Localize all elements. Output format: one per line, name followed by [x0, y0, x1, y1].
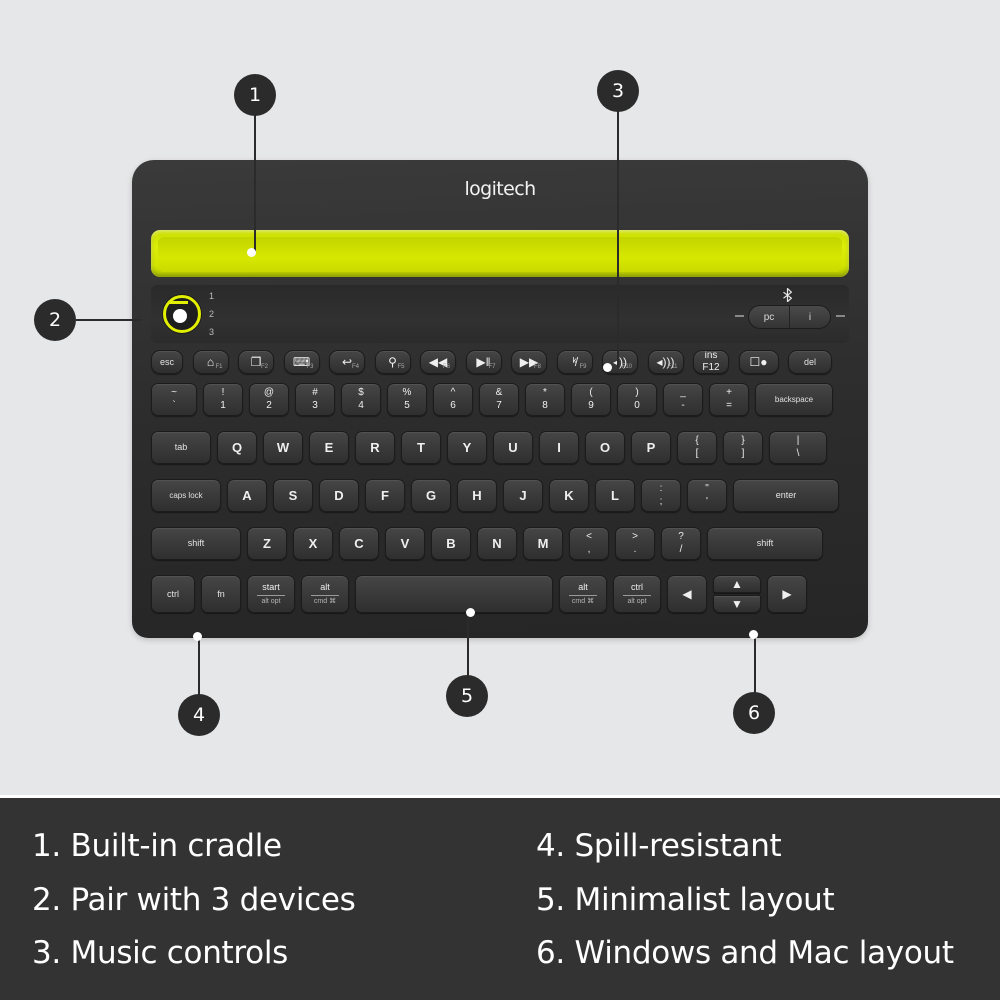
fkey-label: F2 [261, 364, 268, 370]
key-minus[interactable]: _- [663, 383, 703, 416]
key-label: tab [175, 443, 188, 452]
callout-line-3 [617, 108, 619, 368]
key-label-shifted: $ [358, 387, 364, 400]
key-zero[interactable]: )0 [617, 383, 657, 416]
key-dual-label: _- [680, 387, 686, 412]
callout-badge-1: 1 [234, 74, 276, 116]
key-label-shifted: } [741, 435, 744, 448]
key-label-windows: start [262, 583, 280, 594]
key-label: P [647, 441, 656, 454]
key-dual-os-label: startalt opt [248, 583, 294, 605]
key-dual-label: !1 [220, 387, 226, 412]
callout-dot-6 [749, 630, 758, 639]
key-six[interactable]: ^6 [433, 383, 473, 416]
key-dual-label: &7 [496, 387, 503, 412]
key-slash[interactable]: ?/ [661, 527, 701, 560]
key-label: E [325, 441, 334, 454]
key-dual-label: <, [586, 531, 592, 556]
key-label-shifted: ( [589, 387, 592, 400]
key-s[interactable]: S [273, 479, 313, 512]
fkey-label: F8 [534, 364, 541, 370]
key-esc[interactable]: esc [151, 350, 183, 374]
key-label: C [354, 537, 363, 550]
fkey-label: F9 [579, 364, 586, 370]
feature-item-4: 4. Spill-resistant [536, 820, 996, 874]
cradle-inner-groove [158, 237, 842, 272]
key-label-shifted: ins [705, 350, 718, 362]
feature-column-left: 1. Built-in cradle 2. Pair with 3 device… [32, 820, 512, 981]
key-one[interactable]: !1 [203, 383, 243, 416]
key-label: L [611, 489, 619, 502]
key-label: T [417, 441, 425, 454]
key-ctrl-right[interactable]: ctrlalt opt [613, 575, 661, 613]
key-o[interactable]: O [585, 431, 625, 464]
dial-knob [173, 309, 187, 323]
callout-dot-1 [247, 248, 256, 257]
key-j[interactable]: J [503, 479, 543, 512]
keyboard-body: logitech 1 2 3 pc i esc⌂ [132, 160, 868, 638]
arrow-up-icon: ▲ [731, 578, 743, 590]
feature-item-5: 5. Minimalist layout [536, 874, 996, 928]
key-alt-right[interactable]: altcmd ⌘ [559, 575, 607, 613]
key-label-base: 4 [358, 400, 364, 413]
key-label: X [309, 537, 318, 550]
key-label-base: ` [172, 400, 175, 413]
fkey-label: F3 [306, 364, 313, 370]
key-enter[interactable]: enter [733, 479, 839, 512]
key-dual-os-label: altcmd ⌘ [302, 583, 348, 605]
key-divider [623, 595, 651, 596]
home-icon: ⌂ [207, 356, 214, 368]
key-divider [257, 595, 285, 596]
key-label-shifted: * [543, 387, 547, 400]
key-play-pause[interactable]: ▶‖F7 [466, 350, 502, 374]
key-next-track[interactable]: ▶▶F8 [511, 350, 547, 374]
key-p[interactable]: P [631, 431, 671, 464]
key-label: esc [160, 358, 174, 367]
fkey-label: F1 [215, 364, 222, 370]
key-label-base: - [681, 400, 684, 413]
key-ctrl-left[interactable]: ctrl [151, 575, 195, 613]
key-label-base: 1 [220, 400, 226, 413]
key-tilde[interactable]: ~` [151, 383, 197, 416]
mute-icon: ᵏ̸ [572, 356, 576, 368]
key-label-base: ; [660, 496, 663, 509]
key-divider [311, 595, 339, 596]
fkey-label: F11 [668, 364, 678, 370]
feature-item-1: 1. Built-in cradle [32, 820, 512, 874]
key-dual-label: ?/ [678, 531, 684, 556]
arrow-down-icon: ▼ [731, 598, 743, 610]
key-label-shifted: ) [635, 387, 638, 400]
key-label-mac: alt opt [261, 598, 280, 605]
key-dual-label: |\ [797, 435, 800, 460]
key-label: D [334, 489, 343, 502]
dial-number-3: 3 [209, 327, 214, 337]
key-label-base: 8 [542, 400, 548, 413]
key-previous-track[interactable]: ◀◀F6 [420, 350, 456, 374]
key-backslash[interactable]: |\ [769, 431, 827, 464]
app-switch-icon: ❐ [251, 356, 262, 368]
key-label-base: . [634, 544, 637, 557]
key-label: H [472, 489, 481, 502]
key-r[interactable]: R [355, 431, 395, 464]
key-label: Z [263, 537, 271, 550]
key-e[interactable]: E [309, 431, 349, 464]
fkey-label: F4 [352, 364, 359, 370]
key-label: del [804, 358, 816, 367]
key-dual-label: insF12 [702, 350, 719, 374]
key-g[interactable]: G [411, 479, 451, 512]
key-dual-label: }] [741, 435, 744, 460]
key-label: I [557, 441, 561, 454]
key-label: O [600, 441, 610, 454]
key-insert-print[interactable]: insF12 [693, 350, 729, 374]
key-label-shifted: & [496, 387, 503, 400]
key-label: G [426, 489, 436, 502]
key-label: enter [776, 491, 797, 500]
key-k[interactable]: K [549, 479, 589, 512]
key-mute[interactable]: ᵏ̸F9 [557, 350, 593, 374]
key-label: B [446, 537, 455, 550]
key-start[interactable]: startalt opt [247, 575, 295, 613]
key-home[interactable]: ⌂F1 [193, 350, 229, 374]
key-label-base: = [726, 400, 732, 413]
key-seven[interactable]: &7 [479, 383, 519, 416]
callout-badge-5: 5 [446, 675, 488, 717]
key-label: W [277, 441, 289, 454]
key-label-base: ] [742, 448, 745, 461]
toggle-option-pc[interactable]: pc [749, 306, 790, 328]
key-x[interactable]: X [293, 527, 333, 560]
feature-column-right: 4. Spill-resistant 5. Minimalist layout … [536, 820, 996, 981]
key-i[interactable]: I [539, 431, 579, 464]
key-bracket-left[interactable]: {[ [677, 431, 717, 464]
key-tab[interactable]: tab [151, 431, 211, 464]
key-quote[interactable]: "' [687, 479, 727, 512]
screenshot-icon: ☐● [749, 356, 767, 368]
key-bracket-right[interactable]: }] [723, 431, 763, 464]
key-five[interactable]: %5 [387, 383, 427, 416]
key-q[interactable]: Q [217, 431, 257, 464]
key-dual-label: ^6 [450, 387, 456, 412]
key-label: shift [188, 539, 205, 548]
fkey-label: F10 [622, 364, 632, 370]
key-dual-label: )0 [634, 387, 640, 412]
key-dual-label: $4 [358, 387, 364, 412]
key-backspace[interactable]: backspace [755, 383, 833, 416]
bluetooth-icon [782, 288, 793, 304]
key-label-shifted: ! [222, 387, 225, 400]
key-b[interactable]: B [431, 527, 471, 560]
logitech-wordmark: logitech [132, 178, 868, 200]
feature-item-2: 2. Pair with 3 devices [32, 874, 512, 928]
key-label: caps lock [169, 492, 202, 500]
key-label-shifted: : [660, 483, 663, 496]
key-u[interactable]: U [493, 431, 533, 464]
fkey-label: F6 [443, 364, 450, 370]
dial-number-2: 2 [209, 309, 214, 319]
feature-item-3: 3. Music controls [32, 927, 512, 981]
key-label-base: 9 [588, 400, 594, 413]
key-label-shifted: ^ [451, 387, 456, 400]
key-four[interactable]: $4 [341, 383, 381, 416]
key-dual-os-label: ctrlalt opt [614, 583, 660, 605]
key-dual-label: += [726, 387, 732, 412]
key-t[interactable]: T [401, 431, 441, 464]
key-label-mac: cmd ⌘ [572, 598, 594, 605]
key-delete[interactable]: del [788, 350, 832, 374]
key-label-shifted: > [632, 531, 638, 544]
key-label: A [242, 489, 251, 502]
key-shift-left[interactable]: shift [151, 527, 241, 560]
key-label-windows: alt [578, 583, 588, 594]
key-label-base: / [680, 544, 683, 557]
key-label: Q [232, 441, 242, 454]
key-app-switch[interactable]: ❐F2 [238, 350, 274, 374]
key-label-shifted: ~ [171, 387, 177, 400]
key-y[interactable]: Y [447, 431, 487, 464]
key-f[interactable]: F [365, 479, 405, 512]
key-label-base: , [588, 544, 591, 557]
key-label-shifted: + [726, 387, 732, 400]
key-label-shifted: % [403, 387, 412, 400]
key-label: backspace [775, 396, 813, 404]
key-label-shifted: { [695, 435, 698, 448]
key-comma[interactable]: <, [569, 527, 609, 560]
key-label-base: 2 [266, 400, 272, 413]
key-dual-label: @2 [264, 387, 274, 412]
key-label: R [370, 441, 379, 454]
callout-badge-6: 6 [733, 692, 775, 734]
callout-badge-2: 2 [34, 299, 76, 341]
key-label-base: F12 [702, 362, 719, 374]
key-label: M [538, 537, 549, 550]
callout-badge-3: 3 [597, 70, 639, 112]
callout-dot-5 [466, 608, 475, 617]
key-label: J [519, 489, 526, 502]
key-arrow-right[interactable]: ▶ [767, 575, 807, 613]
search-icon: ⚲ [388, 356, 397, 368]
key-label-mac: alt opt [627, 598, 646, 605]
key-dual-label: {[ [695, 435, 698, 460]
callout-line-1 [254, 110, 256, 252]
key-dual-label: ~` [171, 387, 177, 412]
key-label-shifted: " [705, 483, 709, 496]
dial-pointer [169, 301, 188, 304]
key-arrow-down[interactable]: ▼ [713, 595, 761, 613]
callout-dot-4 [193, 632, 202, 641]
key-shift-right[interactable]: shift [707, 527, 823, 560]
key-z[interactable]: Z [247, 527, 287, 560]
toggle-dash-right [836, 315, 845, 317]
key-d[interactable]: D [319, 479, 359, 512]
key-label: U [508, 441, 517, 454]
key-label-base: 7 [496, 400, 502, 413]
key-two[interactable]: @2 [249, 383, 289, 416]
key-dual-label: *8 [542, 387, 548, 412]
key-back[interactable]: ↩F4 [329, 350, 365, 374]
key-label-shifted: ? [678, 531, 684, 544]
key-label: fn [217, 590, 225, 599]
key-spacebar[interactable] [355, 575, 553, 613]
key-n[interactable]: N [477, 527, 517, 560]
key-dual-label: %5 [403, 387, 412, 412]
key-label-base: 6 [450, 400, 456, 413]
key-label-shifted: | [797, 435, 800, 448]
key-screenshot[interactable]: ☐● [739, 350, 779, 374]
key-label-base: ' [706, 496, 708, 509]
key-semicolon[interactable]: :; [641, 479, 681, 512]
key-alt-left[interactable]: altcmd ⌘ [301, 575, 349, 613]
key-label-base: 5 [404, 400, 410, 413]
key-dual-label: (9 [588, 387, 594, 412]
key-period[interactable]: >. [615, 527, 655, 560]
key-caps-lock[interactable]: caps lock [151, 479, 221, 512]
key-label-windows: alt [320, 583, 330, 594]
key-w[interactable]: W [263, 431, 303, 464]
key-label: K [564, 489, 573, 502]
key-nine[interactable]: (9 [571, 383, 611, 416]
key-arrow-left[interactable]: ◀ [667, 575, 707, 613]
key-equals[interactable]: += [709, 383, 749, 416]
key-keyboard-toggle[interactable]: ⌨F3 [284, 350, 320, 374]
key-label-base: 0 [634, 400, 640, 413]
key-dual-label: >. [632, 531, 638, 556]
key-dual-label: #3 [312, 387, 318, 412]
back-icon: ↩ [342, 356, 352, 368]
key-label: ctrl [167, 590, 179, 599]
feature-item-6: 6. Windows and Mac layout [536, 927, 996, 981]
key-v[interactable]: V [385, 527, 425, 560]
callout-dot-3 [603, 363, 612, 372]
key-label-shifted: @ [264, 387, 274, 400]
key-h[interactable]: H [457, 479, 497, 512]
key-label: F [381, 489, 389, 502]
callout-badge-4: 4 [178, 694, 220, 736]
key-label: shift [757, 539, 774, 548]
key-label: N [492, 537, 501, 550]
key-dual-label: :; [660, 483, 663, 508]
key-eight[interactable]: *8 [525, 383, 565, 416]
arrow-right-icon: ▶ [782, 588, 791, 600]
toggle-dash-left [735, 315, 744, 317]
product-image-panel: logitech 1 2 3 pc i esc⌂ [0, 0, 1000, 795]
key-dual-os-label: altcmd ⌘ [560, 583, 606, 605]
key-l[interactable]: L [595, 479, 635, 512]
key-arrow-up[interactable]: ▲ [713, 575, 761, 593]
key-divider [569, 595, 597, 596]
key-fn[interactable]: fn [201, 575, 241, 613]
key-label-base: \ [797, 448, 800, 461]
key-label-windows: ctrl [631, 583, 643, 594]
key-label-base: [ [696, 448, 699, 461]
pc-ios-toggle[interactable]: pc i [748, 305, 831, 329]
feature-list-bar: 1. Built-in cradle 2. Pair with 3 device… [0, 798, 1000, 1000]
control-strip: 1 2 3 pc i [151, 285, 849, 343]
key-label: Y [463, 441, 472, 454]
key-dual-label: "' [705, 483, 709, 508]
key-label-shifted: # [312, 387, 318, 400]
key-m[interactable]: M [523, 527, 563, 560]
arrow-left-icon: ◀ [682, 588, 691, 600]
key-label: S [289, 489, 298, 502]
key-a[interactable]: A [227, 479, 267, 512]
fkey-label: F5 [397, 364, 404, 370]
key-search[interactable]: ⚲F5 [375, 350, 411, 374]
key-label: V [401, 537, 410, 550]
key-label-base: 3 [312, 400, 318, 413]
key-label-shifted: < [586, 531, 592, 544]
callout-line-2 [76, 319, 142, 321]
dial-number-1: 1 [209, 291, 214, 301]
key-c[interactable]: C [339, 527, 379, 560]
toggle-option-ios[interactable]: i [790, 306, 830, 328]
fkey-label: F7 [488, 364, 495, 370]
key-label-mac: cmd ⌘ [314, 598, 336, 605]
key-three[interactable]: #3 [295, 383, 335, 416]
key-label-shifted: _ [680, 387, 686, 400]
key-volume-up[interactable]: ◂)))F11 [648, 350, 684, 374]
